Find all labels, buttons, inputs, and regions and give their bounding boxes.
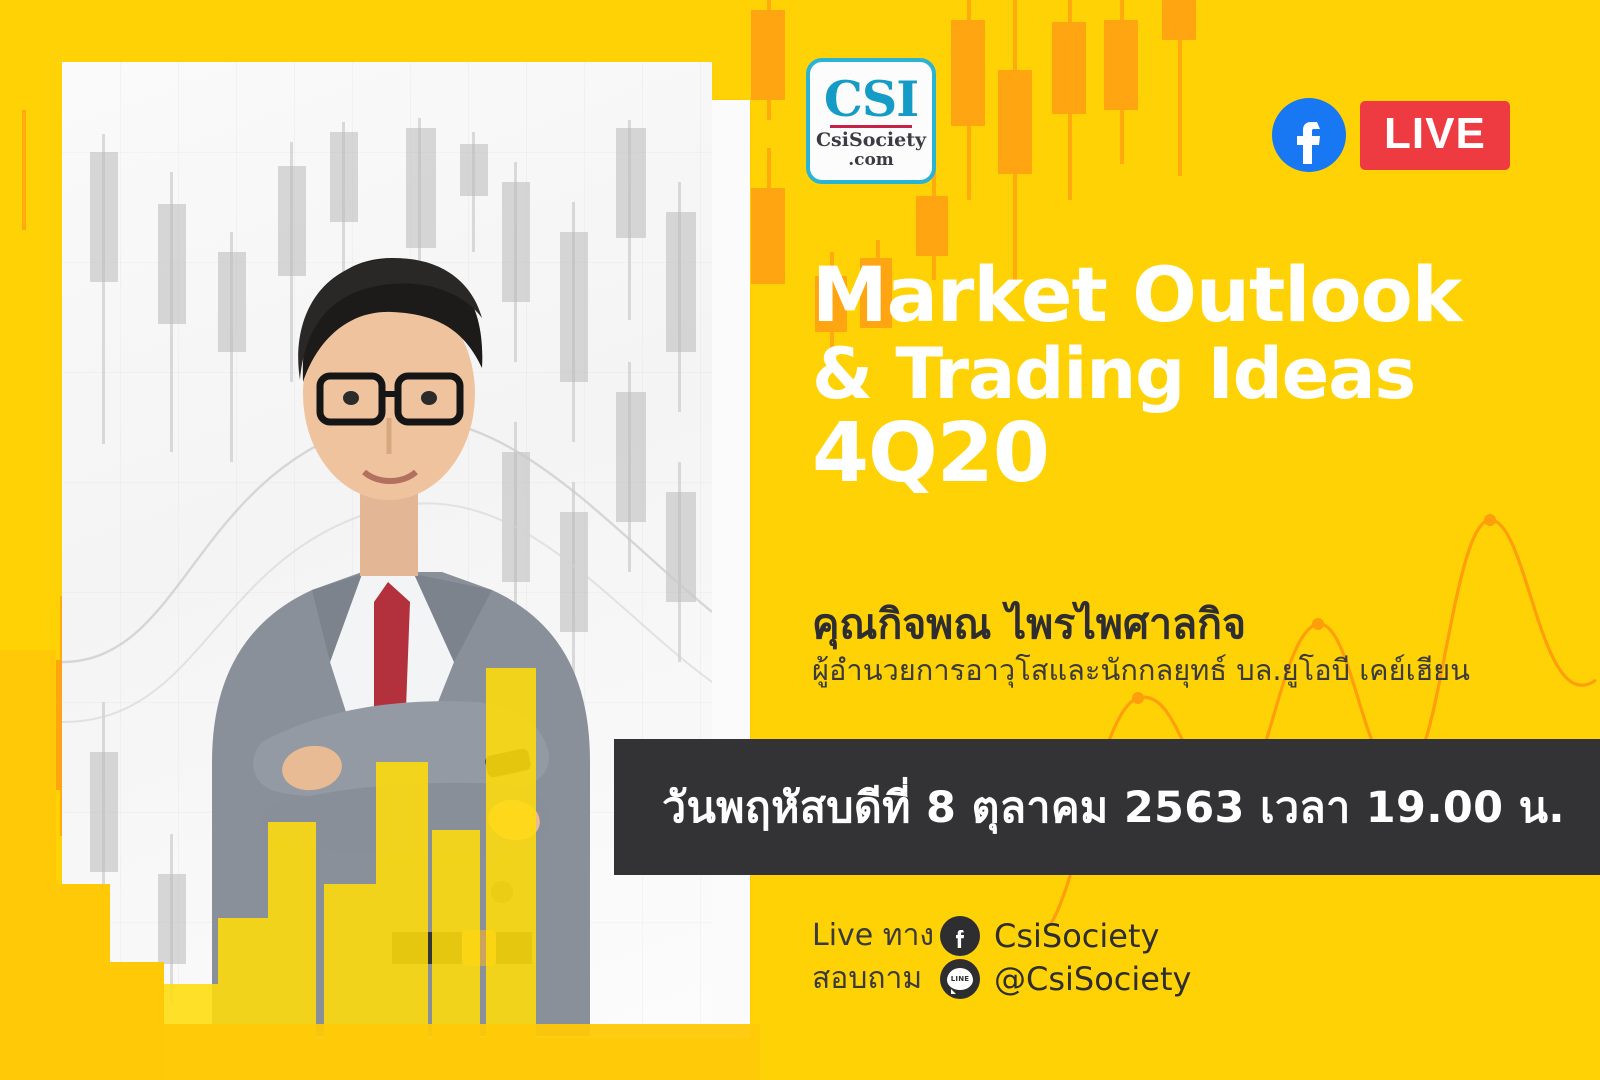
date-banner: วันพฤหัสบดีที่ 8 ตุลาคม 2563 เวลา 19.00 …	[614, 739, 1600, 875]
title-line-3: 4Q20	[812, 412, 1572, 496]
logo-divider	[830, 125, 912, 128]
speaker-photo-panel	[62, 62, 712, 1036]
poster-canvas: CSI CsiSociety .com LIVE Market Outlook …	[0, 0, 1600, 1080]
contact-row-line[interactable]: สอบถาม LINE @CsiSociety	[812, 955, 1191, 1002]
line-icon-text: LINE	[951, 975, 970, 983]
date-banner-text: วันพฤหัสบดีที่ 8 ตุลาคม 2563 เวลา 19.00 …	[662, 773, 1565, 841]
line-icon[interactable]: LINE	[940, 959, 980, 999]
logo-wordmark: CsiSociety	[816, 131, 926, 151]
speaker-role: ผู้อำนวยการอาวุโสและนักกลยุทธ์ บล.ยูโอบี…	[812, 652, 1572, 690]
title-line-2: & Trading Ideas	[812, 338, 1572, 410]
page-title: Market Outlook & Trading Ideas 4Q20	[812, 256, 1572, 497]
contact-value-line[interactable]: @CsiSociety	[994, 960, 1191, 998]
contact-row-facebook[interactable]: Live ทาง CsiSociety	[812, 912, 1159, 959]
logo-tld: .com	[848, 151, 894, 170]
facebook-icon[interactable]	[1272, 98, 1346, 172]
contact-value-facebook[interactable]: CsiSociety	[994, 917, 1159, 955]
speaker-portrait	[62, 62, 712, 1036]
csi-logo[interactable]: CSI CsiSociety .com	[806, 58, 936, 184]
contact-label-live: Live ทาง	[812, 912, 940, 959]
facebook-icon[interactable]	[940, 916, 980, 956]
contact-label-inquiry: สอบถาม	[812, 955, 940, 1002]
title-line-1: Market Outlook	[812, 256, 1572, 334]
speaker-name: คุณกิจพณ ไพรไพศาลกิจ	[812, 600, 1532, 649]
logo-mark-text: CSI	[824, 76, 918, 123]
live-badge-group[interactable]: LIVE	[1272, 98, 1510, 172]
live-label: LIVE	[1360, 101, 1510, 170]
